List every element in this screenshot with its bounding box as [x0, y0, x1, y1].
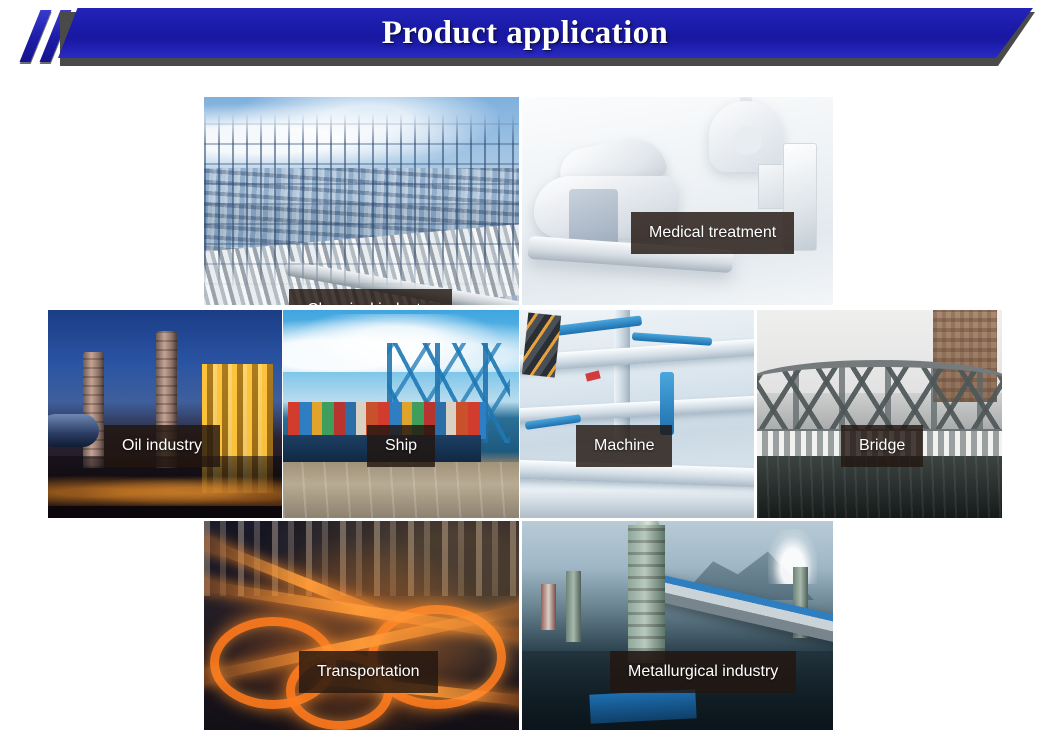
transportation-photo [204, 521, 519, 730]
storage-tank-shape [48, 414, 99, 447]
tile-label-metallurgical-industry: Metallurgical industry [610, 651, 796, 693]
chemical-industry-photo [204, 97, 519, 305]
gallery-tile-machine[interactable]: Machine [520, 310, 754, 518]
medical-treatment-photo [522, 97, 833, 305]
gallery-tile-transportation[interactable]: Transportation [204, 521, 519, 730]
product-application-page: Product application Chemical industry Me… [0, 0, 1050, 745]
gallery-tile-chemical-industry[interactable]: Chemical industry [204, 97, 519, 305]
oil-industry-photo [48, 310, 282, 518]
tile-label-medical-treatment: Medical treatment [631, 212, 794, 254]
wall-panel-small-shape [758, 164, 786, 210]
machine-photo [520, 310, 754, 518]
tile-label-machine: Machine [576, 425, 672, 467]
gallery-tile-ship[interactable]: Ship [283, 310, 519, 518]
process-tower-shape [628, 525, 665, 663]
console-shape [569, 189, 619, 247]
tile-label-transportation: Transportation [299, 651, 438, 693]
cable-chain-shape [522, 313, 561, 378]
gallery-tile-bridge[interactable]: Bridge [757, 310, 1002, 518]
tile-label-bridge: Bridge [841, 425, 923, 467]
chimney-shape-1 [566, 571, 582, 642]
ship-photo [283, 310, 519, 518]
bridge-photo [757, 310, 1002, 518]
machine-column-shape [614, 310, 630, 439]
page-header-banner: Product application [0, 0, 1050, 72]
gallery-tile-oil-industry[interactable]: Oil industry [48, 310, 282, 518]
gallery-tile-medical-treatment[interactable]: Medical treatment [522, 97, 833, 305]
metallurgical-industry-photo [522, 521, 833, 730]
page-title: Product application [0, 8, 1050, 58]
dock-shape [283, 462, 519, 518]
ceiling-xray-unit-shape [709, 101, 784, 172]
tile-label-ship: Ship [367, 425, 435, 467]
night-lights-glow [48, 472, 282, 505]
tile-label-chemical-industry: Chemical industry [289, 289, 452, 305]
city-glow-overlay [204, 521, 519, 730]
smokestack-shape-1 [83, 352, 104, 468]
gallery-tile-metallurgical-industry[interactable]: Metallurgical industry [522, 521, 833, 730]
chimney-shape-2 [541, 584, 557, 630]
steel-truss-shape [757, 360, 1002, 435]
blue-equipment-shape [590, 690, 697, 725]
tile-label-oil-industry: Oil industry [104, 425, 220, 467]
red-indicator-shape [585, 371, 601, 382]
